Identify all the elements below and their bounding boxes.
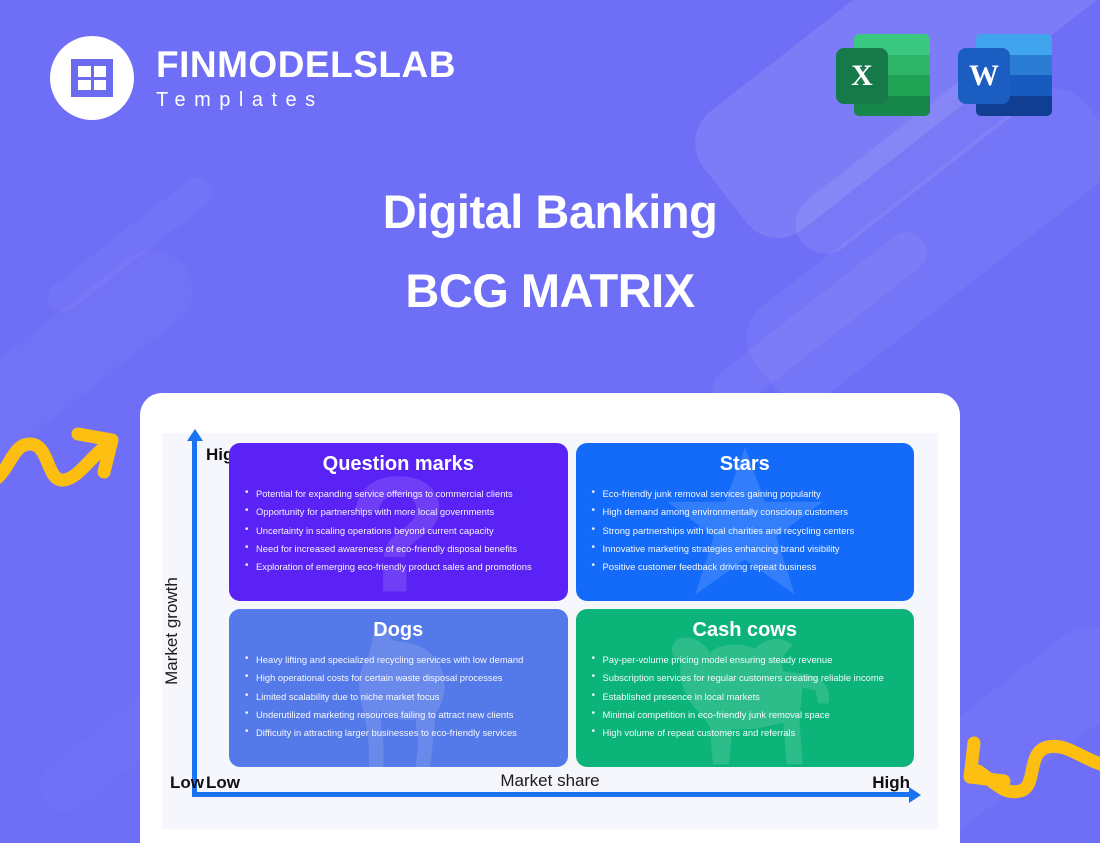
- word-icon[interactable]: W: [958, 28, 1052, 122]
- quadrant-title: Question marks: [243, 453, 554, 476]
- x-axis: [192, 792, 910, 797]
- quadrant-bullet-list: Pay-per-volume pricing model ensuring st…: [590, 650, 901, 742]
- quadrant-title: Cash cows: [590, 619, 901, 642]
- list-item: Underutilized marketing resources failin…: [243, 705, 554, 723]
- brand-name: FINMODELSLAB: [156, 46, 456, 83]
- list-item: Exploration of emerging eco-friendly pro…: [243, 558, 554, 576]
- list-item: Potential for expanding service offering…: [243, 484, 554, 502]
- list-item: High volume of repeat customers and refe…: [590, 724, 901, 742]
- list-item: Innovative marketing strategies enhancin…: [590, 539, 901, 557]
- header: FINMODELSLAB Templates X W: [0, 0, 1100, 150]
- quadrant-question-marks[interactable]: ? Question marks Potential for expanding…: [229, 443, 568, 601]
- page-title-line1: Digital Banking: [0, 186, 1100, 239]
- list-item: Positive customer feedback driving repea…: [590, 558, 901, 576]
- list-item: Minimal competition in eco-friendly junk…: [590, 705, 901, 723]
- quadrant-dogs[interactable]: Dogs Heavy lifting and specialized recyc…: [229, 609, 568, 767]
- list-item: Heavy lifting and specialized recycling …: [243, 650, 554, 668]
- excel-icon[interactable]: X: [836, 28, 930, 122]
- list-item: High demand among environmentally consci…: [590, 502, 901, 520]
- x-axis-low-label: Low: [170, 773, 204, 793]
- page-title-line2: BCG MATRIX: [0, 265, 1100, 318]
- y-axis: [192, 439, 197, 797]
- x-axis-label: Market share: [500, 771, 599, 791]
- list-item: Limited scalability due to niche market …: [243, 687, 554, 705]
- quadrant-title: Stars: [590, 453, 901, 476]
- y-axis-label: Market growth: [162, 577, 182, 685]
- word-icon-letter: W: [958, 48, 1010, 104]
- bcg-matrix-card: High Low Market growth Market share High…: [140, 393, 960, 843]
- list-item: Uncertainty in scaling operations beyond…: [243, 521, 554, 539]
- quadrant-grid: ? Question marks Potential for expanding…: [229, 443, 914, 767]
- quadrant-bullet-list: Potential for expanding service offering…: [243, 484, 554, 576]
- matrix-panel: High Low Market growth Market share High…: [162, 433, 938, 829]
- list-item: Strong partnerships with local charities…: [590, 521, 901, 539]
- brand-logo[interactable]: FINMODELSLAB Templates: [50, 36, 456, 120]
- list-item: Eco-friendly junk removal services gaini…: [590, 484, 901, 502]
- excel-icon-letter: X: [836, 48, 888, 104]
- list-item: Opportunity for partnerships with more l…: [243, 502, 554, 520]
- list-item: Pay-per-volume pricing model ensuring st…: [590, 650, 901, 668]
- file-format-icons: X W: [836, 28, 1052, 122]
- grid-logo-icon: [50, 36, 134, 120]
- list-item: Need for increased awareness of eco-frie…: [243, 539, 554, 557]
- quadrant-bullet-list: Eco-friendly junk removal services gaini…: [590, 484, 901, 576]
- list-item: Established presence in local markets: [590, 687, 901, 705]
- squiggly-arrow-up-right-icon: [0, 400, 127, 500]
- quadrant-title: Dogs: [243, 619, 554, 642]
- quadrant-cash-cows[interactable]: Cash cows Pay-per-volume pricing model e…: [576, 609, 915, 767]
- page-title: Digital Banking BCG MATRIX: [0, 186, 1100, 317]
- quadrant-bullet-list: Heavy lifting and specialized recycling …: [243, 650, 554, 742]
- squiggly-arrow-down-left-icon: [960, 725, 1100, 835]
- list-item: Difficulty in attracting larger business…: [243, 724, 554, 742]
- brand-subtitle: Templates: [156, 90, 456, 110]
- list-item: High operational costs for certain waste…: [243, 668, 554, 686]
- y-axis-low-label: Low: [206, 773, 240, 793]
- x-axis-high-label: High: [872, 773, 910, 793]
- quadrant-stars[interactable]: Stars Eco-friendly junk removal services…: [576, 443, 915, 601]
- list-item: Subscription services for regular custom…: [590, 668, 901, 686]
